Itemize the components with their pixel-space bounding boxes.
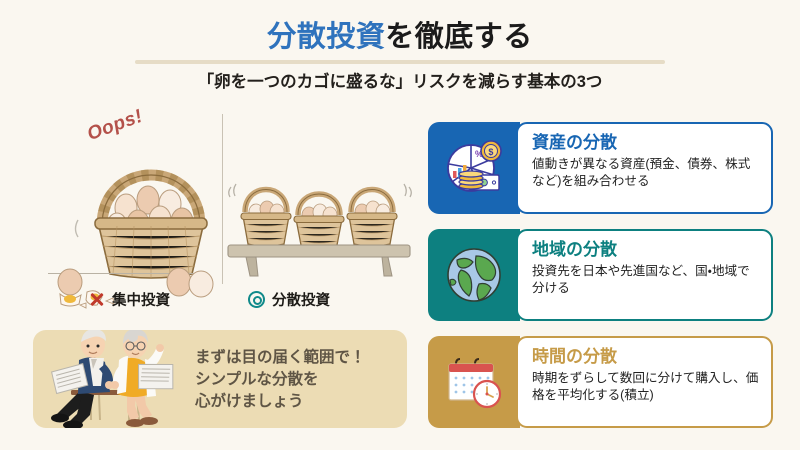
illustration-panel: Oops! <box>30 108 415 308</box>
single-basket-illustration <box>72 134 232 279</box>
illustration-labels: 集中投資 分散投資 <box>30 288 415 314</box>
card-icon-pane <box>428 336 520 428</box>
page-subtitle: 「卵を一つのカゴに盛るな」リスクを減らす基本の3つ <box>0 68 800 92</box>
card-description: 時期をずらして数回に分けて購入し、価格を平均化する(積立) <box>532 370 760 406</box>
card-body: 時間の分散 時期をずらして数回に分けて購入し、価格を平均化する(積立) <box>516 336 773 428</box>
double-circle-icon <box>248 291 265 308</box>
label-concentrated-investment: 集中投資 <box>88 289 170 310</box>
card-icon-pane <box>428 229 520 321</box>
pie-chart-money-icon: % $ <box>443 137 505 199</box>
card-title: 地域の分散 <box>532 240 760 260</box>
card-region-diversification[interactable]: 地域の分散 投資先を日本や先進国など、国・地域で分ける <box>428 229 773 321</box>
title-divider <box>135 60 665 64</box>
card-title: 資産の分散 <box>532 133 760 153</box>
card-icon-pane: % $ <box>428 122 520 214</box>
elderly-couple-illustration <box>41 330 201 428</box>
card-asset-diversification[interactable]: % $ <box>428 122 773 214</box>
globe-icon <box>445 246 503 304</box>
card-description: 投資先を日本や先進国など、国・地域で分ける <box>532 263 760 299</box>
label-diversified-investment: 分散投資 <box>248 289 330 310</box>
page-title: 分散投資を徹底する <box>0 13 800 55</box>
label-diversified-text: 分散投資 <box>272 289 330 310</box>
card-body: 地域の分散 投資先を日本や先進国など、国・地域で分ける <box>516 229 773 321</box>
three-baskets-illustration <box>226 168 412 278</box>
header: 分散投資を徹底する 「卵を一つのカゴに盛るな」リスクを減らす基本の3つ <box>0 0 800 96</box>
page-title-rest: を徹底する <box>385 21 533 53</box>
card-body: 資産の分散 値動きが異なる資産(預金、債券、株式など)を組み合わせる <box>516 122 773 214</box>
label-concentrated-text: 集中投資 <box>112 289 170 310</box>
svg-text:$: $ <box>488 147 493 157</box>
x-mark-icon <box>88 291 105 308</box>
card-time-diversification[interactable]: 時間の分散 時期をずらして数回に分けて購入し、価格を平均化する(積立) <box>428 336 773 428</box>
card-title: 時間の分散 <box>532 347 760 367</box>
calendar-clock-icon <box>443 354 505 410</box>
cards-list: % $ <box>428 122 773 443</box>
advice-text: まずは目の届く範囲で！ シンプルな分散を 心がけましょう <box>195 347 366 413</box>
card-description: 値動きが異なる資産(預金、債券、株式など)を組み合わせる <box>532 156 760 192</box>
advice-box: まずは目の届く範囲で！ シンプルな分散を 心がけましょう <box>33 330 407 428</box>
page-title-accent: 分散投資 <box>267 21 385 53</box>
